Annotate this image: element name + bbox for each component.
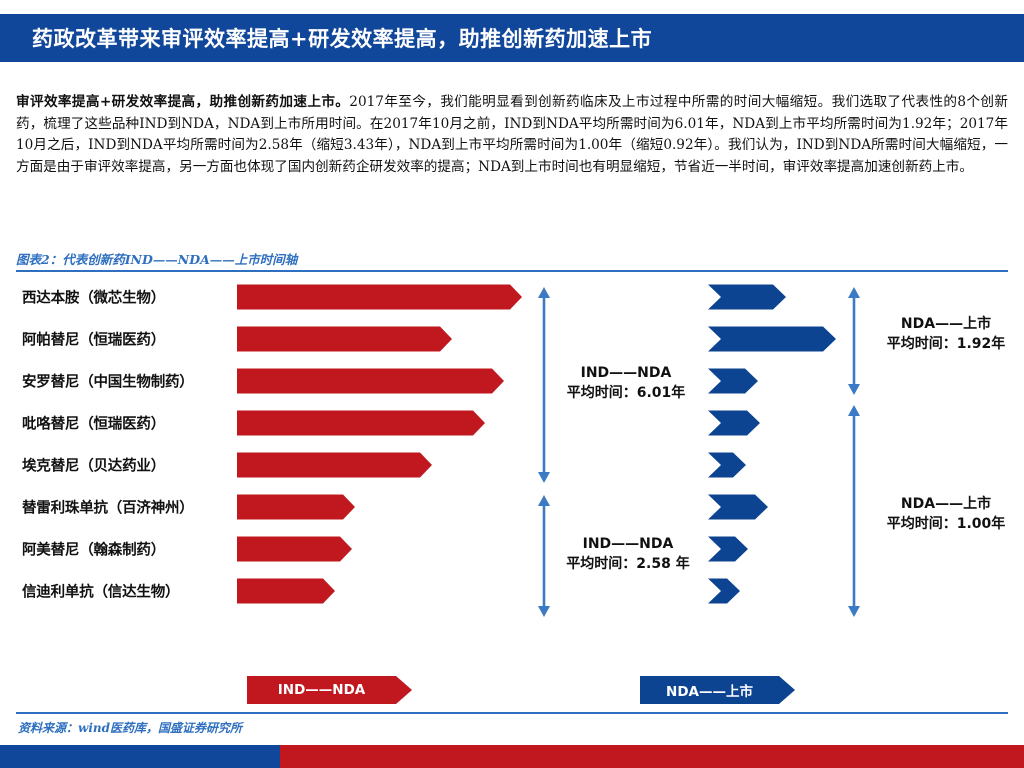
note-nda-market-before-line2: 平均时间：1.92年 xyxy=(872,334,1020,354)
exhibit-caption: 图表2：代表创新药IND——NDA——上市时间轴 xyxy=(16,249,297,268)
note-ind-nda-after: IND——NDA 平均时间：2.58 年 xyxy=(556,534,700,574)
timeline-chart: 西达本胺（微芯生物）阿帕替尼（恒瑞医药）安罗替尼（中国生物制药）吡咯替尼（恒瑞医… xyxy=(0,276,1024,628)
nda-to-market-bar xyxy=(708,369,758,394)
table-row: 阿帕替尼（恒瑞医药） xyxy=(0,318,1024,360)
table-row: 西达本胺（微芯生物） xyxy=(0,276,1024,318)
note-ind-nda-after-line1: IND——NDA xyxy=(556,534,700,554)
ind-to-nda-bar xyxy=(237,369,504,394)
nda-to-market-bar xyxy=(708,411,760,436)
note-ind-nda-before-line2: 平均时间：6.01年 xyxy=(556,383,696,403)
caption-divider xyxy=(16,270,1008,272)
slide-title-bar: 药政改革带来审评效率提高+研发效率提高，助推创新药加速上市 xyxy=(0,14,1024,62)
nda-to-market-bar xyxy=(708,327,836,352)
drug-label: 埃克替尼（贝达药业） xyxy=(22,455,165,476)
legend-label-ind-nda: IND——NDA xyxy=(247,682,396,698)
page-title: 药政改革带来审评效率提高+研发效率提高，助推创新药加速上市 xyxy=(32,23,652,53)
legend-label-nda-market: NDA——上市 xyxy=(640,680,779,700)
drug-label: 安罗替尼（中国生物制药） xyxy=(22,371,194,392)
note-ind-nda-before: IND——NDA 平均时间：6.01年 xyxy=(556,363,696,403)
drug-label: 阿帕替尼（恒瑞医药） xyxy=(22,329,165,350)
drug-label: 西达本胺（微芯生物） xyxy=(22,287,165,308)
nda-to-market-bar xyxy=(708,495,768,520)
note-nda-market-after-line1: NDA——上市 xyxy=(872,494,1020,514)
right-bracket-upper-arrow xyxy=(846,287,862,395)
drug-label: 阿美替尼（翰森制药） xyxy=(22,539,165,560)
drug-label: 替雷利珠单抗（百济神州） xyxy=(22,497,194,518)
left-bracket-lower-arrow xyxy=(536,495,552,617)
table-row: 替雷利珠单抗（百济神州） xyxy=(0,486,1024,528)
note-nda-market-before: NDA——上市 平均时间：1.92年 xyxy=(872,314,1020,354)
ind-to-nda-bar xyxy=(237,579,335,604)
nda-to-market-bar xyxy=(708,285,786,310)
table-row: 吡咯替尼（恒瑞医药） xyxy=(0,402,1024,444)
table-row: 埃克替尼（贝达药业） xyxy=(0,444,1024,486)
ind-to-nda-bar xyxy=(237,453,432,478)
body-paragraph: 审评效率提高+研发效率提高，助推创新药加速上市。2017年至今，我们能明显看到创… xyxy=(16,92,1008,178)
drug-label: 信迪利单抗（信达生物） xyxy=(22,581,179,602)
table-row: 信迪利单抗（信达生物） xyxy=(0,570,1024,612)
nda-to-market-bar xyxy=(708,579,740,604)
left-bracket-upper-arrow xyxy=(536,287,552,483)
footer-bar-left xyxy=(0,745,280,768)
body-lead-sentence: 审评效率提高+研发效率提高，助推创新药加速上市。 xyxy=(16,94,349,110)
note-nda-market-after-line2: 平均时间：1.00年 xyxy=(872,514,1020,534)
right-bracket-lower-arrow xyxy=(846,405,862,617)
source-divider xyxy=(16,712,1008,714)
legend-item-nda-market: NDA——上市 xyxy=(640,676,795,704)
slide-root: 药政改革带来审评效率提高+研发效率提高，助推创新药加速上市 审评效率提高+研发效… xyxy=(0,0,1024,768)
ind-to-nda-bar xyxy=(237,537,352,562)
note-nda-market-before-line1: NDA——上市 xyxy=(872,314,1020,334)
drug-label: 吡咯替尼（恒瑞医药） xyxy=(22,413,165,434)
footer-bar-right xyxy=(280,745,1024,768)
nda-to-market-bar xyxy=(708,453,746,478)
note-nda-market-after: NDA——上市 平均时间：1.00年 xyxy=(872,494,1020,534)
note-ind-nda-after-line2: 平均时间：2.58 年 xyxy=(556,554,700,574)
ind-to-nda-bar xyxy=(237,285,522,310)
note-ind-nda-before-line1: IND——NDA xyxy=(556,363,696,383)
ind-to-nda-bar xyxy=(237,327,452,352)
ind-to-nda-bar xyxy=(237,495,355,520)
ind-to-nda-bar xyxy=(237,411,485,436)
nda-to-market-bar xyxy=(708,537,748,562)
table-row: 阿美替尼（翰森制药） xyxy=(0,528,1024,570)
source-note: 资料来源：wind医药库，国盛证券研究所 xyxy=(18,719,242,736)
legend-item-ind-nda: IND——NDA xyxy=(247,676,412,704)
table-row: 安罗替尼（中国生物制药） xyxy=(0,360,1024,402)
